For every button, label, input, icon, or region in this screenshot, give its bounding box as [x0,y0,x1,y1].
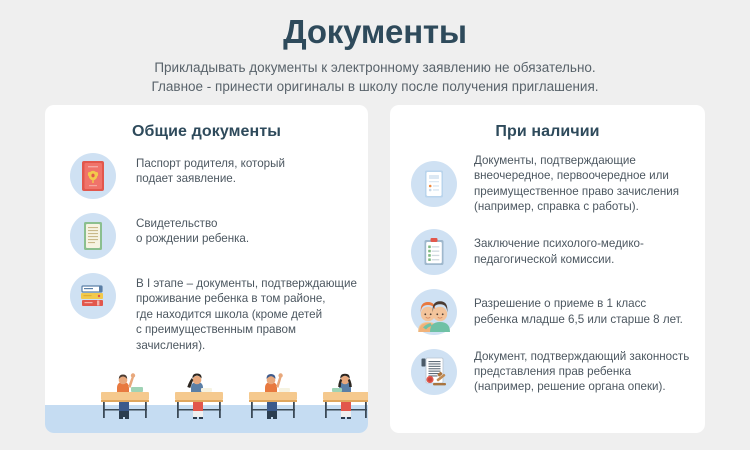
children-pair-icon [411,289,457,335]
list-item-text: В I этапе – документы, подтверждающие пр… [136,273,368,353]
list-item: Свидетельство о рождении ребенка. [45,213,368,259]
header: Документы Прикладывать документы к элект… [0,0,750,96]
page-subtitle: Прикладывать документы к электронному за… [0,58,750,96]
card-general-documents: Общие документы [45,105,368,433]
certificate-document-icon [411,161,457,207]
list-item-text: Документы, подтверждающие внеочередное, … [474,153,679,215]
list-item-text: Свидетельство о рождении ребенка. [136,213,249,247]
general-documents-list: Паспорт родителя, который подает заявлен… [45,141,368,353]
subtitle-line-1: Прикладывать документы к электронному за… [0,58,750,77]
list-item-text: Паспорт родителя, который подает заявлен… [136,153,285,187]
classroom-illustration [45,373,368,433]
if-available-list: Документы, подтверждающие внеочередное, … [390,141,705,395]
list-item-text: Разрешение о приеме в 1 класс ребенка мл… [474,296,683,327]
classroom-desks [45,373,368,433]
list-item: Разрешение о приеме в 1 класс ребенка мл… [390,289,705,335]
page-title: Документы [0,12,750,52]
subtitle-line-2: Главное - принести оригиналы в школу пос… [0,77,750,96]
list-item: Заключение психолого-медико- педагогичес… [390,229,705,275]
list-item: Документы, подтверждающие внеочередное, … [390,153,705,215]
card-title-if-available: При наличии [390,105,705,141]
card-if-available: При наличии [390,105,705,433]
list-item-text: Документ, подтверждающий законность пред… [474,349,689,395]
list-item: В I этапе – документы, подтверждающие пр… [45,273,368,353]
cards-row: Общие документы [45,105,705,433]
books-stack-icon [70,273,116,319]
list-item-text: Заключение психолого-медико- педагогичес… [474,236,644,267]
clipboard-checklist-icon [411,229,457,275]
documents-infographic: Документы Прикладывать документы к элект… [0,0,750,450]
card-title-general: Общие документы [45,105,368,141]
birth-certificate-icon [70,213,116,259]
legal-document-gavel-icon [411,349,457,395]
list-item: Документ, подтверждающий законность пред… [390,349,705,395]
list-item: Паспорт родителя, который подает заявлен… [45,153,368,199]
passport-icon [70,153,116,199]
